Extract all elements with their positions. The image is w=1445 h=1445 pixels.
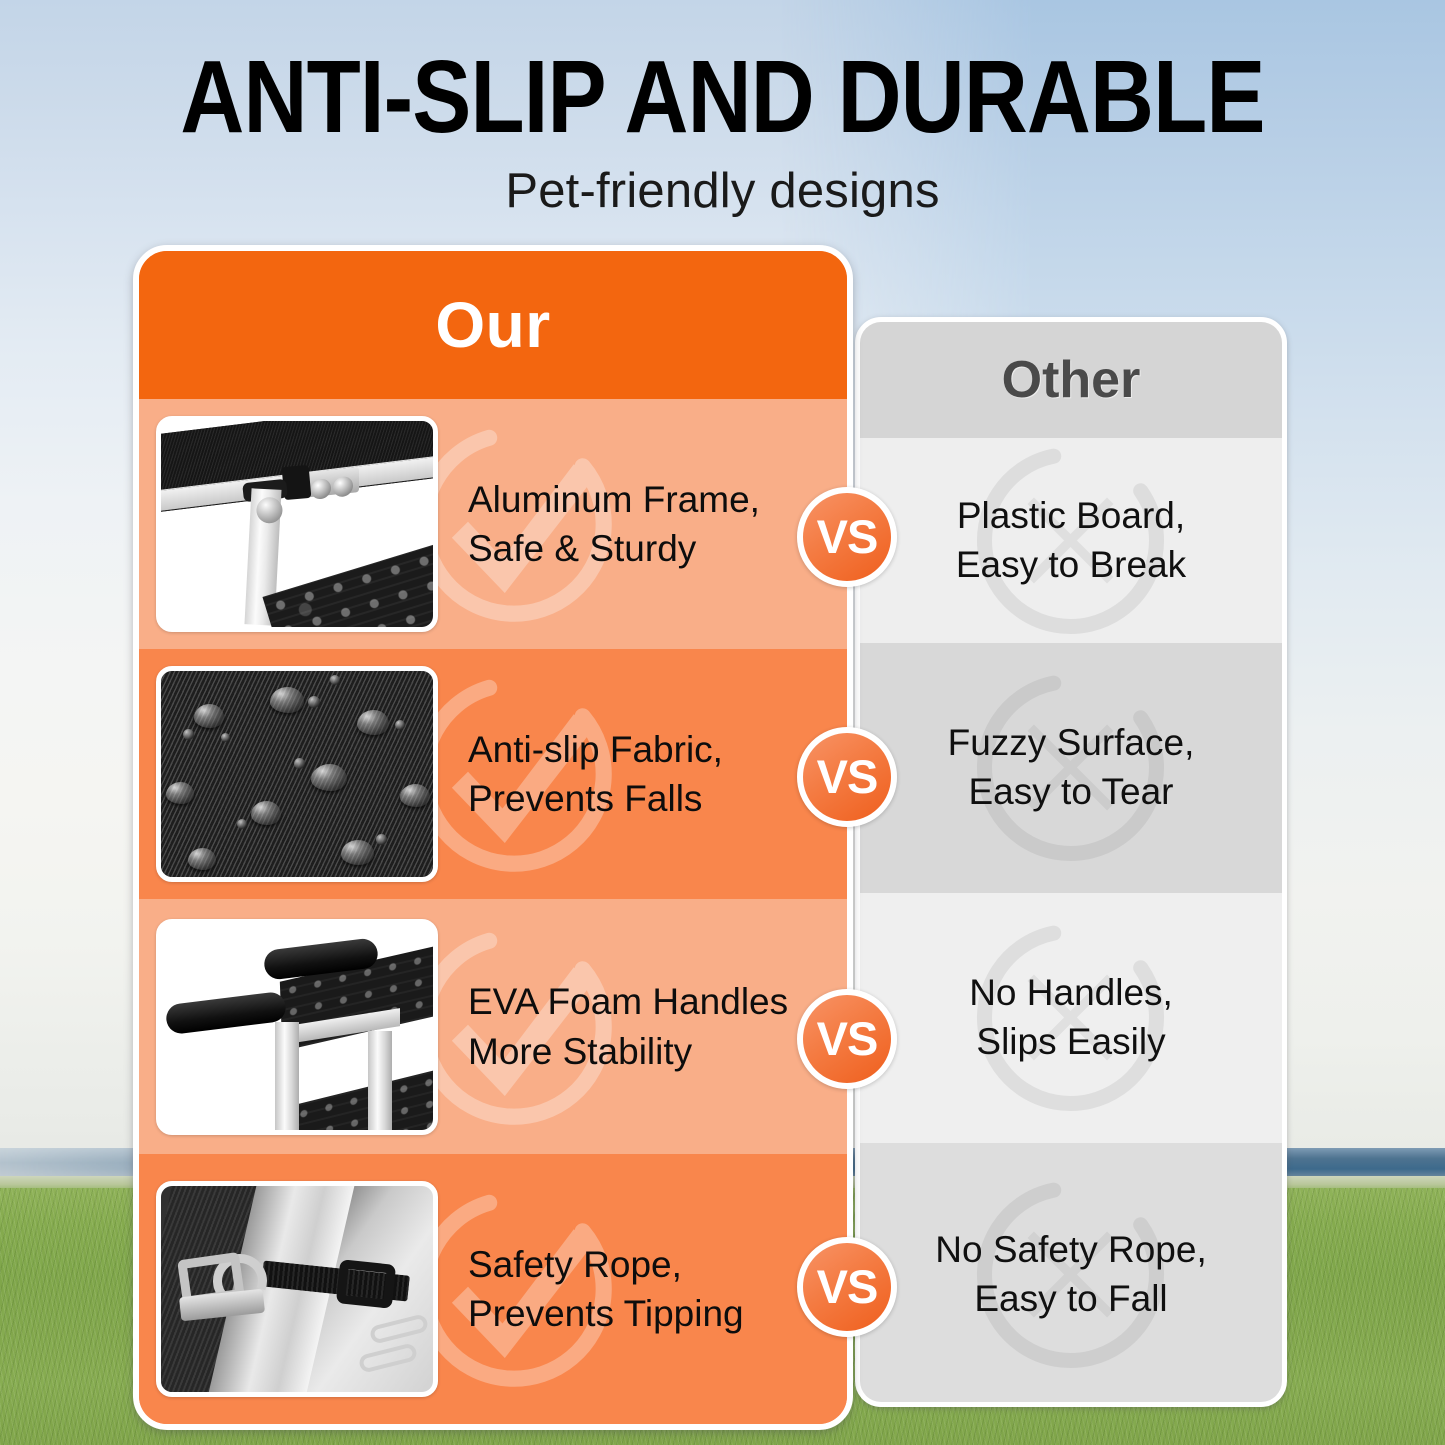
vs-label: VS xyxy=(817,1011,878,1066)
other-column: Other Plastic Board, Easy to Break Fuzzy… xyxy=(855,317,1287,1407)
our-row-text: EVA Foam Handles More Stability xyxy=(468,977,788,1075)
vs-badge: VS xyxy=(797,989,897,1089)
other-row: Plastic Board, Easy to Break xyxy=(860,438,1282,643)
other-row-text: Plastic Board, Easy to Break xyxy=(956,492,1186,590)
our-column: Our Aluminum Frame, Safe & Sturdy xyxy=(133,245,853,1430)
our-column-title: Our xyxy=(435,288,550,362)
other-row-text: No Handles, Slips Easily xyxy=(969,969,1173,1067)
header-block: ANTI-SLIP AND DURABLE Pet-friendly desig… xyxy=(0,0,1445,219)
anti-slip-fabric-photo xyxy=(156,666,438,882)
other-rows: Plastic Board, Easy to Break Fuzzy Surfa… xyxy=(860,438,1282,1402)
vs-badge: VS xyxy=(797,1237,897,1337)
vs-badge: VS xyxy=(797,727,897,827)
our-row-text: Aluminum Frame, Safe & Sturdy xyxy=(468,475,760,573)
our-row: Aluminum Frame, Safe & Sturdy xyxy=(139,399,847,649)
eva-foam-handles-photo xyxy=(156,919,438,1135)
our-row: Anti-slip Fabric, Prevents Falls xyxy=(139,649,847,899)
other-row: No Handles, Slips Easily xyxy=(860,893,1282,1143)
our-row: Safety Rope, Prevents Tipping xyxy=(139,1154,847,1424)
vs-label: VS xyxy=(817,509,878,564)
page-subtitle: Pet-friendly designs xyxy=(0,163,1445,219)
vs-label: VS xyxy=(817,1259,878,1314)
page-title: ANTI-SLIP AND DURABLE xyxy=(101,44,1344,149)
vs-badge: VS xyxy=(797,487,897,587)
aluminum-frame-photo xyxy=(156,416,438,632)
other-column-header: Other xyxy=(860,322,1282,438)
safety-rope-photo xyxy=(156,1181,438,1397)
our-row: EVA Foam Handles More Stability xyxy=(139,899,847,1154)
our-column-header: Our xyxy=(139,251,847,399)
other-row: Fuzzy Surface, Easy to Tear xyxy=(860,643,1282,893)
our-row-text: Safety Rope, Prevents Tipping xyxy=(468,1240,744,1338)
other-row: No Safety Rope, Easy to Fall xyxy=(860,1143,1282,1406)
other-row-text: Fuzzy Surface, Easy to Tear xyxy=(948,719,1195,817)
vs-label: VS xyxy=(817,749,878,804)
our-row-text: Anti-slip Fabric, Prevents Falls xyxy=(468,725,723,823)
other-row-text: No Safety Rope, Easy to Fall xyxy=(935,1226,1206,1324)
other-column-title: Other xyxy=(1002,350,1141,410)
